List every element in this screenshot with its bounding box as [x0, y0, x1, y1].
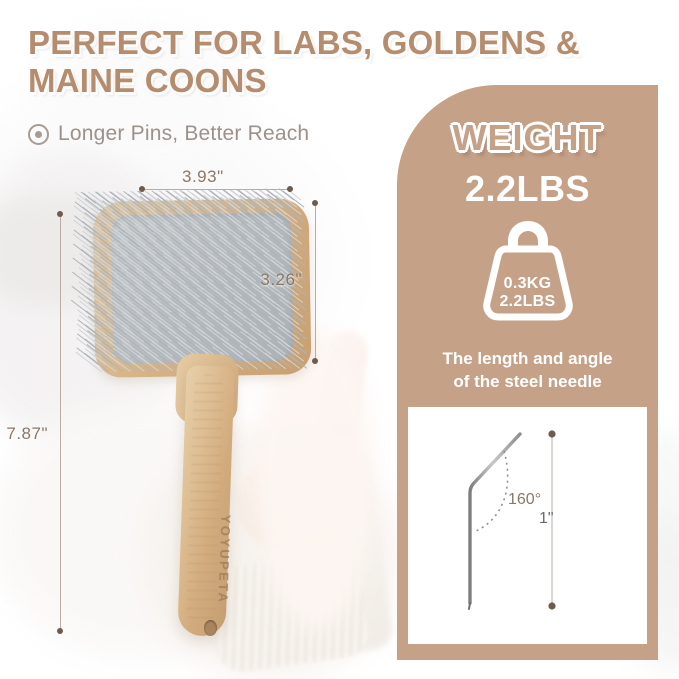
weight-icon-text: 0.3KG 2.2LBS [472, 275, 584, 312]
needle-diagram-box: 160° 1" [408, 407, 647, 644]
needle-caption: The length and angle of the steel needle [397, 348, 658, 394]
infographic-canvas: PERFECT FOR LABS, GOLDENS & MAINE COONS … [0, 0, 679, 679]
needle-caption-line1: The length and angle [397, 348, 658, 371]
weight-panel-value: 2.2LBS [397, 168, 658, 210]
dimension-line [142, 189, 290, 190]
dimension-width-label: 3.93" [182, 167, 224, 187]
brand-engraving: YOYUPETA [178, 513, 233, 605]
target-ring-center [35, 131, 42, 138]
weight-panel-title: WEIGHT [397, 117, 658, 159]
dimension-endpoint [312, 358, 318, 364]
needle-tip [469, 603, 470, 609]
dimension-endpoint [548, 430, 555, 437]
feature-bullet-label: Longer Pins, Better Reach [58, 122, 309, 146]
weight-icon-line2: 2.2LBS [472, 293, 584, 311]
dimension-total-length-label: 7.87" [6, 424, 48, 444]
dimension-head-height-label: 3.26" [260, 270, 302, 290]
dimension-endpoint [312, 200, 318, 206]
dimension-endpoint [139, 186, 145, 192]
dimension-line [315, 203, 316, 361]
weight-kettlebell-icon: 0.3KG 2.2LBS [397, 215, 658, 323]
target-ring-icon [28, 124, 49, 145]
angle-label: 160° [508, 491, 541, 509]
needle-length-label: 1" [539, 510, 554, 528]
needle-caption-line2: of the steel needle [397, 371, 658, 394]
dimension-endpoint [57, 211, 63, 217]
feature-bullet: Longer Pins, Better Reach [28, 122, 309, 146]
weight-panel: WEIGHT 2.2LBS 0.3KG 2.2LBS The length an… [397, 85, 658, 660]
dimension-endpoint [548, 602, 555, 609]
dimension-line [60, 214, 61, 631]
dimension-endpoint [57, 628, 63, 634]
needle-shaft [470, 434, 520, 603]
dimension-endpoint [287, 186, 293, 192]
needle-diagram [408, 407, 647, 644]
weight-icon-line1: 0.3KG [472, 275, 584, 293]
